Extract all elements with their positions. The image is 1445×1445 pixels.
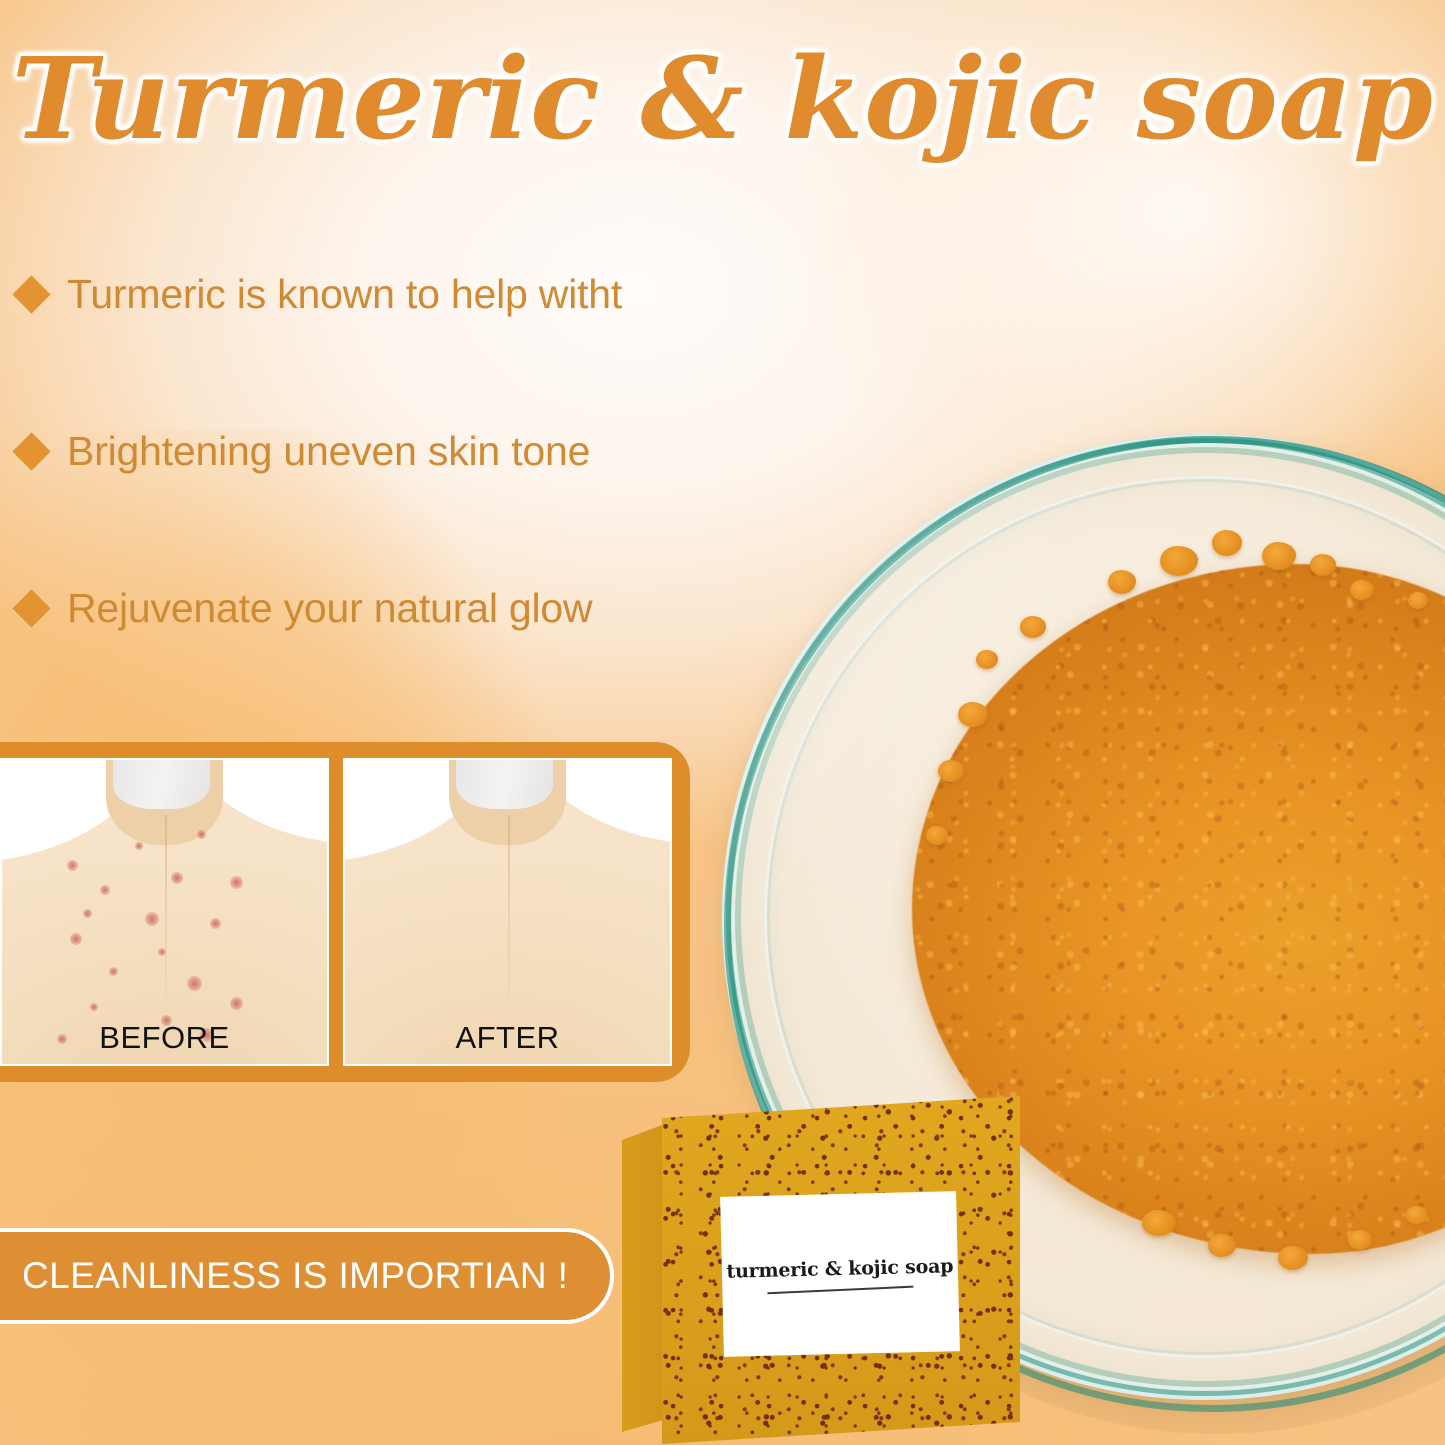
spine-line: [508, 815, 510, 1028]
soap-box-front-face: turmeric & kojic soap: [662, 1096, 1020, 1444]
before-after-panel: BEFORE AFTER: [0, 742, 690, 1082]
spine-line: [165, 815, 167, 1028]
soap-box-label-text: turmeric & kojic soap: [726, 1255, 953, 1283]
page-title: Turmeric & kojic soap: [0, 34, 1445, 165]
soap-box-label: turmeric & kojic soap: [720, 1191, 960, 1357]
list-item: Brightening uneven skin tone: [14, 425, 734, 477]
hair-shape: [113, 758, 211, 809]
product-ad-poster: Turmeric & kojic soap Turmeric is known …: [0, 0, 1445, 1445]
benefit-text: Turmeric is known to help witht: [67, 271, 622, 318]
benefit-text: Rejuvenate your natural glow: [67, 585, 592, 632]
soap-box-product: turmeric & kojic soap: [622, 1096, 1022, 1445]
list-item: Turmeric is known to help witht: [14, 268, 734, 320]
benefits-list: Turmeric is known to help witht Brighten…: [14, 268, 734, 634]
cleanliness-banner-text: CLEANLINESS IS IMPORTIAN !: [22, 1255, 568, 1297]
soap-box-label-rule: [767, 1285, 913, 1294]
diamond-bullet-icon: [12, 432, 50, 470]
before-photo: BEFORE: [0, 758, 329, 1066]
after-label: AFTER: [345, 1020, 670, 1056]
benefit-text: Brightening uneven skin tone: [67, 428, 590, 475]
diamond-bullet-icon: [12, 275, 50, 313]
before-label: BEFORE: [2, 1020, 327, 1056]
hair-shape: [456, 758, 554, 809]
diamond-bullet-icon: [12, 589, 50, 627]
after-photo: AFTER: [343, 758, 672, 1066]
cleanliness-banner: CLEANLINESS IS IMPORTIAN !: [0, 1228, 614, 1324]
list-item: Rejuvenate your natural glow: [14, 582, 734, 634]
